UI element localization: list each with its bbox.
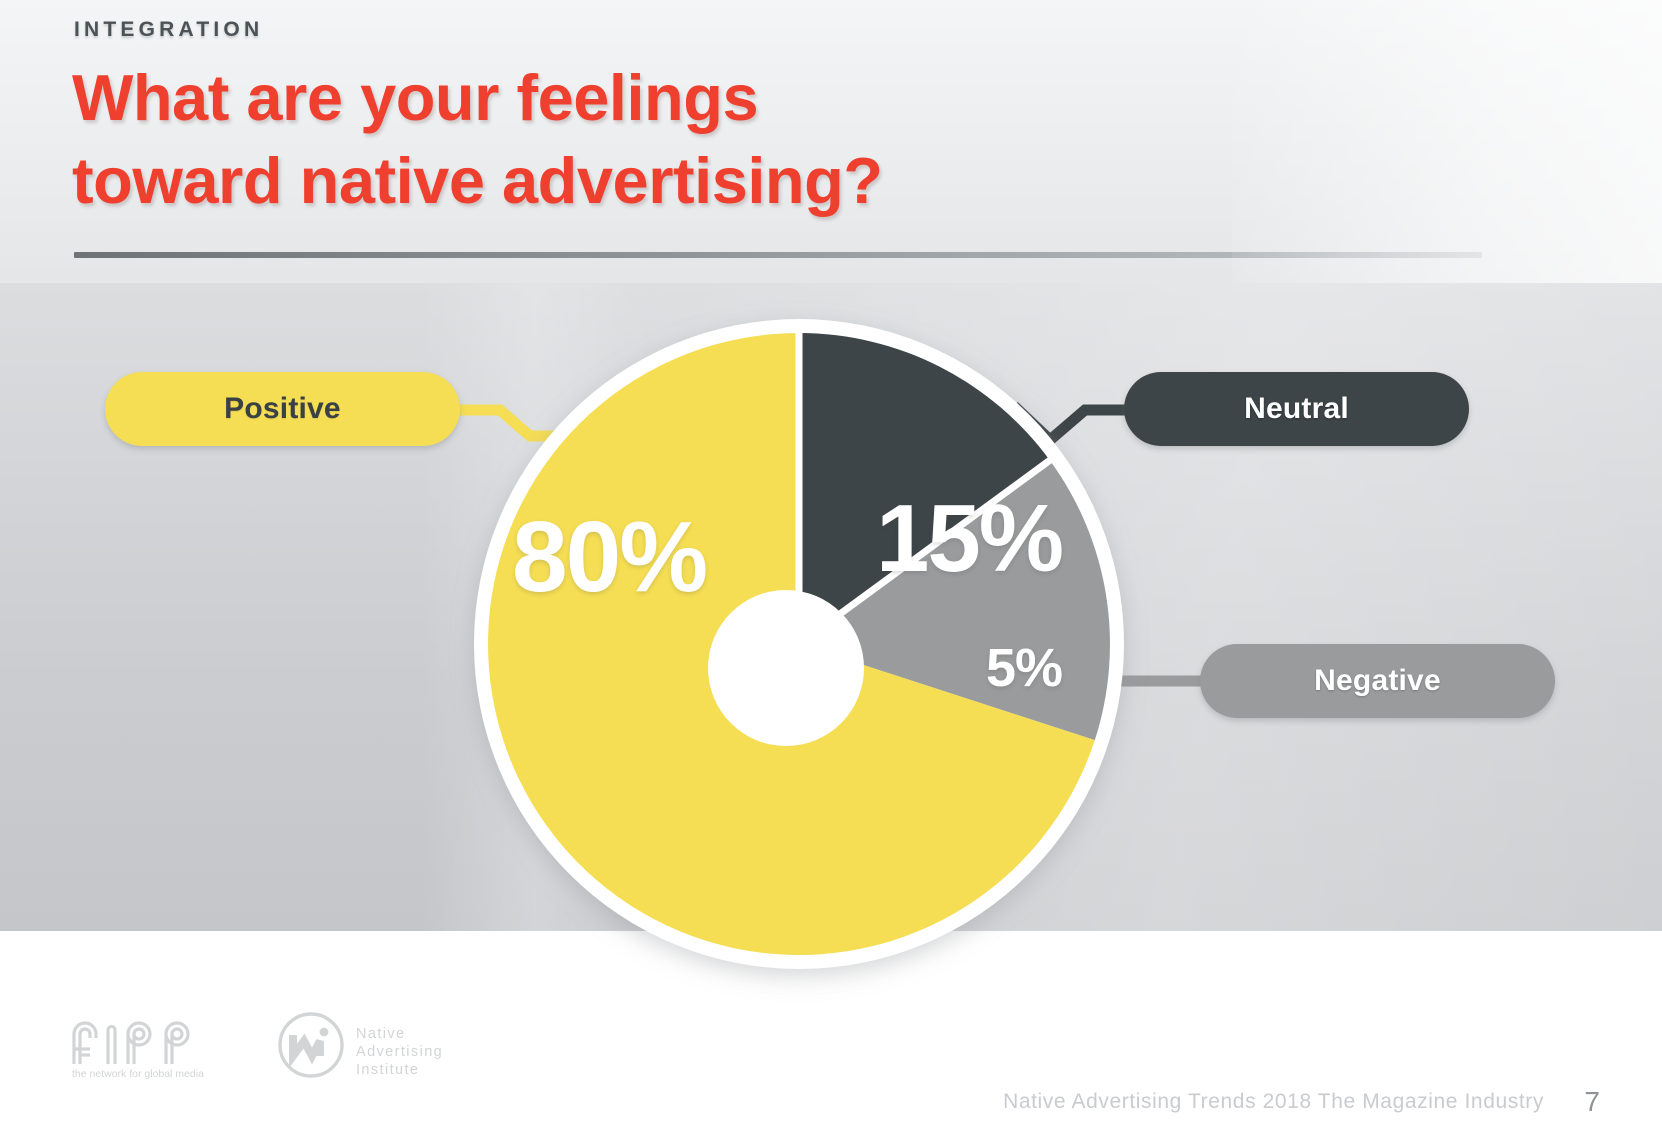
fipp-logo: the network for global media — [70, 1018, 230, 1080]
footer-credit: Native Advertising Trends 2018 The Magaz… — [1003, 1090, 1544, 1114]
nai-logo: Native Advertising Institute — [274, 1010, 484, 1080]
legend-pill-negative[interactable]: Negative — [1200, 644, 1555, 718]
title-divider — [74, 252, 1482, 258]
percent-label-positive: 80% — [512, 500, 706, 615]
fipp-tagline: the network for global media — [72, 1068, 204, 1080]
page-title: What are your feelings toward native adv… — [72, 56, 1172, 222]
nai-name-line-2: Advertising — [356, 1044, 443, 1060]
percent-label-neutral: 15% — [876, 484, 1062, 594]
page-title-line-1: What are your feelings — [72, 56, 1172, 139]
slide: INTEGRATION What are your feelings towar… — [0, 0, 1662, 1138]
legend-pill-negative-label: Negative — [1314, 664, 1441, 698]
percent-label-negative: 5% — [986, 637, 1062, 699]
legend-pill-positive-label: Positive — [224, 392, 341, 426]
nai-logo-mark — [293, 1035, 320, 1056]
legend-pill-neutral[interactable]: Neutral — [1124, 372, 1469, 446]
page-title-line-2: toward native advertising? — [72, 139, 1172, 222]
nai-name-line-3: Institute — [356, 1062, 419, 1078]
legend-pill-neutral-label: Neutral — [1244, 392, 1349, 426]
nai-logo-dot — [320, 1028, 329, 1037]
header-band: INTEGRATION What are your feelings towar… — [0, 0, 1662, 300]
nai-name-line-1: Native — [356, 1026, 406, 1042]
legend-pill-positive[interactable]: Positive — [105, 372, 460, 446]
page-number: 7 — [1584, 1086, 1600, 1118]
eyebrow-label: INTEGRATION — [74, 18, 263, 42]
